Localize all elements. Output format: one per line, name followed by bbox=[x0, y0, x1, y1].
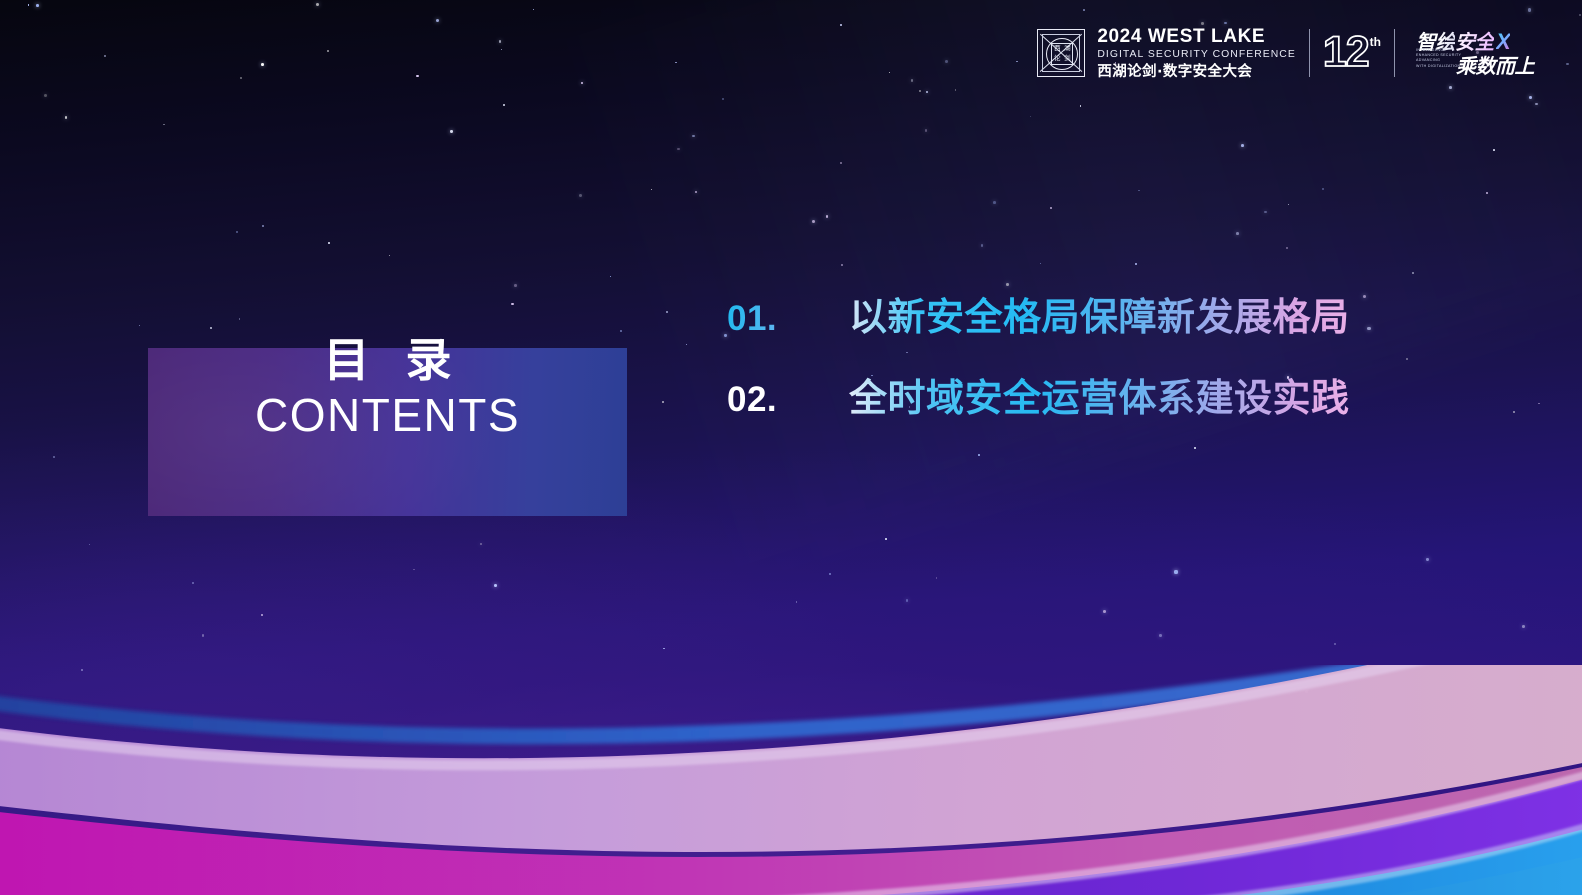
star-dot bbox=[840, 162, 842, 164]
star-dot bbox=[911, 79, 914, 82]
star-dot bbox=[663, 648, 665, 650]
west-lake-seal-emblem-icon: 西 湖 论 剑 bbox=[1034, 26, 1088, 80]
star-dot bbox=[501, 49, 503, 51]
star-dot bbox=[480, 543, 482, 545]
star-dot bbox=[889, 72, 891, 74]
agenda-item-01[interactable]: 01. 以新安全格局保障新发展格局 bbox=[727, 286, 1367, 341]
star-dot bbox=[65, 116, 68, 119]
star-dot bbox=[662, 401, 664, 403]
star-dot bbox=[511, 303, 513, 305]
star-dot bbox=[925, 129, 928, 132]
star-dot bbox=[450, 130, 452, 132]
star-dot bbox=[841, 264, 843, 266]
star-dot bbox=[327, 50, 329, 52]
star-dot bbox=[44, 94, 47, 97]
logo-divider-2 bbox=[1394, 29, 1395, 77]
anniversary-suffix: th bbox=[1370, 35, 1381, 49]
star-dot bbox=[239, 318, 240, 319]
star-dot bbox=[885, 538, 887, 540]
star-dot bbox=[1103, 610, 1106, 613]
star-dot bbox=[812, 220, 815, 223]
slogan-micro-text: INTELLIGENCE ENHANCED SECURITY ADVANCING… bbox=[1416, 48, 1461, 69]
star-dot bbox=[1529, 96, 1532, 99]
star-dot bbox=[514, 284, 517, 287]
star-dot bbox=[1412, 272, 1414, 274]
star-dot bbox=[1528, 8, 1531, 11]
star-dot bbox=[686, 344, 687, 345]
seal-char-3: 论 bbox=[1052, 54, 1062, 64]
star-dot bbox=[610, 276, 611, 277]
star-dot bbox=[236, 231, 237, 232]
star-dot bbox=[240, 77, 242, 79]
star-dot bbox=[1513, 411, 1515, 413]
star-dot bbox=[796, 601, 798, 603]
star-dot bbox=[262, 225, 264, 227]
star-dot bbox=[1174, 570, 1177, 573]
bottom-wave-decoration bbox=[0, 665, 1582, 895]
contents-title-en: CONTENTS bbox=[148, 389, 627, 442]
star-dot bbox=[28, 4, 29, 5]
seal-char-4: 剑 bbox=[1062, 54, 1072, 64]
star-dot bbox=[1535, 103, 1538, 106]
star-dot bbox=[993, 201, 996, 204]
star-dot bbox=[503, 104, 505, 106]
star-dot bbox=[163, 124, 165, 126]
star-dot bbox=[1449, 86, 1452, 89]
star-dot bbox=[829, 573, 830, 574]
star-dot bbox=[1080, 105, 1081, 106]
star-dot bbox=[1288, 204, 1289, 205]
star-dot bbox=[1236, 232, 1239, 235]
star-dot bbox=[579, 194, 582, 197]
star-dot bbox=[36, 4, 39, 7]
agenda-label-02: 全时域安全运营体系建设实践 bbox=[849, 367, 1367, 422]
contents-title-cn: 目 录 bbox=[148, 334, 627, 387]
star-dot bbox=[692, 135, 694, 137]
star-dot bbox=[192, 582, 194, 584]
star-dot bbox=[826, 215, 829, 218]
star-dot bbox=[436, 19, 439, 22]
anniversary-badge: 12 th bbox=[1323, 33, 1381, 73]
star-dot bbox=[1030, 116, 1031, 117]
star-dot bbox=[1486, 192, 1488, 194]
agenda-number-01: 01. bbox=[727, 299, 849, 339]
slogan-micro-line-4: WITH DIGITALIZATION bbox=[1416, 64, 1461, 69]
star-dot bbox=[666, 311, 668, 313]
star-dot bbox=[1426, 558, 1428, 560]
star-dot bbox=[413, 569, 414, 570]
star-dot bbox=[1522, 625, 1525, 628]
anniversary-number: 12 bbox=[1323, 33, 1369, 73]
star-dot bbox=[840, 24, 842, 26]
star-dot bbox=[1493, 149, 1495, 151]
star-dot bbox=[695, 191, 697, 193]
conference-title-block: 2024 WEST LAKE DIGITAL SECURITY CONFEREN… bbox=[1097, 27, 1295, 80]
star-dot bbox=[1159, 634, 1162, 637]
agenda-list: 01. 以新安全格局保障新发展格局 02. 全时域安全运营体系建设实践 bbox=[727, 286, 1367, 448]
star-dot bbox=[919, 90, 921, 92]
star-dot bbox=[677, 148, 680, 151]
conference-year-title: 2024 WEST LAKE bbox=[1097, 27, 1295, 46]
star-dot bbox=[328, 242, 330, 244]
star-dot bbox=[1016, 61, 1018, 63]
contents-title-text: 目 录 CONTENTS bbox=[148, 334, 627, 442]
star-dot bbox=[1286, 247, 1288, 249]
star-dot bbox=[1083, 9, 1085, 11]
slogan-logo: 智绘 安全 X INTELLIGENCE ENHANCED SECURITY A… bbox=[1408, 24, 1556, 82]
agenda-item-02[interactable]: 02. 全时域安全运营体系建设实践 bbox=[727, 367, 1367, 422]
star-dot bbox=[1264, 211, 1267, 214]
star-dot bbox=[926, 91, 929, 94]
star-dot bbox=[1566, 63, 1568, 65]
star-dot bbox=[261, 614, 263, 616]
seal-char-2: 湖 bbox=[1062, 44, 1072, 54]
star-dot bbox=[1334, 643, 1336, 645]
star-dot bbox=[1138, 190, 1139, 191]
star-dot bbox=[210, 327, 212, 329]
star-dot bbox=[906, 599, 909, 602]
star-dot bbox=[261, 63, 264, 66]
conference-subtitle: DIGITAL SECURITY CONFERENCE bbox=[1097, 50, 1295, 60]
presentation-slide: 西 湖 论 剑 2024 WEST LAKE DIGITAL SECURITY … bbox=[0, 0, 1582, 895]
star-dot bbox=[581, 82, 584, 85]
star-dot bbox=[675, 62, 677, 64]
star-dot bbox=[1040, 263, 1041, 264]
star-dot bbox=[533, 9, 535, 11]
star-dot bbox=[945, 60, 948, 63]
star-dot bbox=[981, 244, 984, 247]
star-dot bbox=[389, 255, 390, 256]
star-dot bbox=[1579, 14, 1581, 16]
star-dot bbox=[202, 634, 204, 636]
star-dot bbox=[416, 75, 418, 77]
star-dot bbox=[1406, 358, 1408, 360]
agenda-number-02: 02. bbox=[727, 380, 849, 420]
star-dot bbox=[139, 325, 140, 326]
star-dot bbox=[1367, 327, 1370, 330]
star-dot bbox=[955, 89, 957, 91]
slogan-line2: 乘数而上 bbox=[1456, 50, 1534, 79]
star-dot bbox=[936, 577, 938, 579]
star-dot bbox=[89, 544, 90, 545]
star-dot bbox=[1135, 263, 1137, 265]
star-dot bbox=[1305, 690, 1308, 693]
conference-chinese-name: 西湖论剑·数字安全大会 bbox=[1097, 65, 1295, 80]
star-dot bbox=[620, 330, 622, 332]
star-dot bbox=[1050, 207, 1052, 209]
star-dot bbox=[494, 584, 497, 587]
star-dot bbox=[316, 3, 319, 6]
star-dot bbox=[1538, 403, 1540, 405]
star-dot bbox=[499, 40, 502, 43]
star-dot bbox=[978, 454, 980, 456]
star-dot bbox=[53, 456, 55, 458]
logo-divider-1 bbox=[1309, 29, 1310, 77]
star-dot bbox=[104, 55, 105, 56]
seal-char-1: 西 bbox=[1052, 44, 1062, 54]
agenda-label-01: 以新安全格局保障新发展格局 bbox=[849, 286, 1367, 341]
conference-logo-bar: 西 湖 论 剑 2024 WEST LAKE DIGITAL SECURITY … bbox=[1034, 22, 1556, 84]
star-dot bbox=[1241, 144, 1244, 147]
star-dot bbox=[722, 98, 724, 100]
star-dot bbox=[1322, 188, 1324, 190]
star-dot bbox=[651, 189, 652, 190]
star-dot bbox=[81, 669, 83, 671]
